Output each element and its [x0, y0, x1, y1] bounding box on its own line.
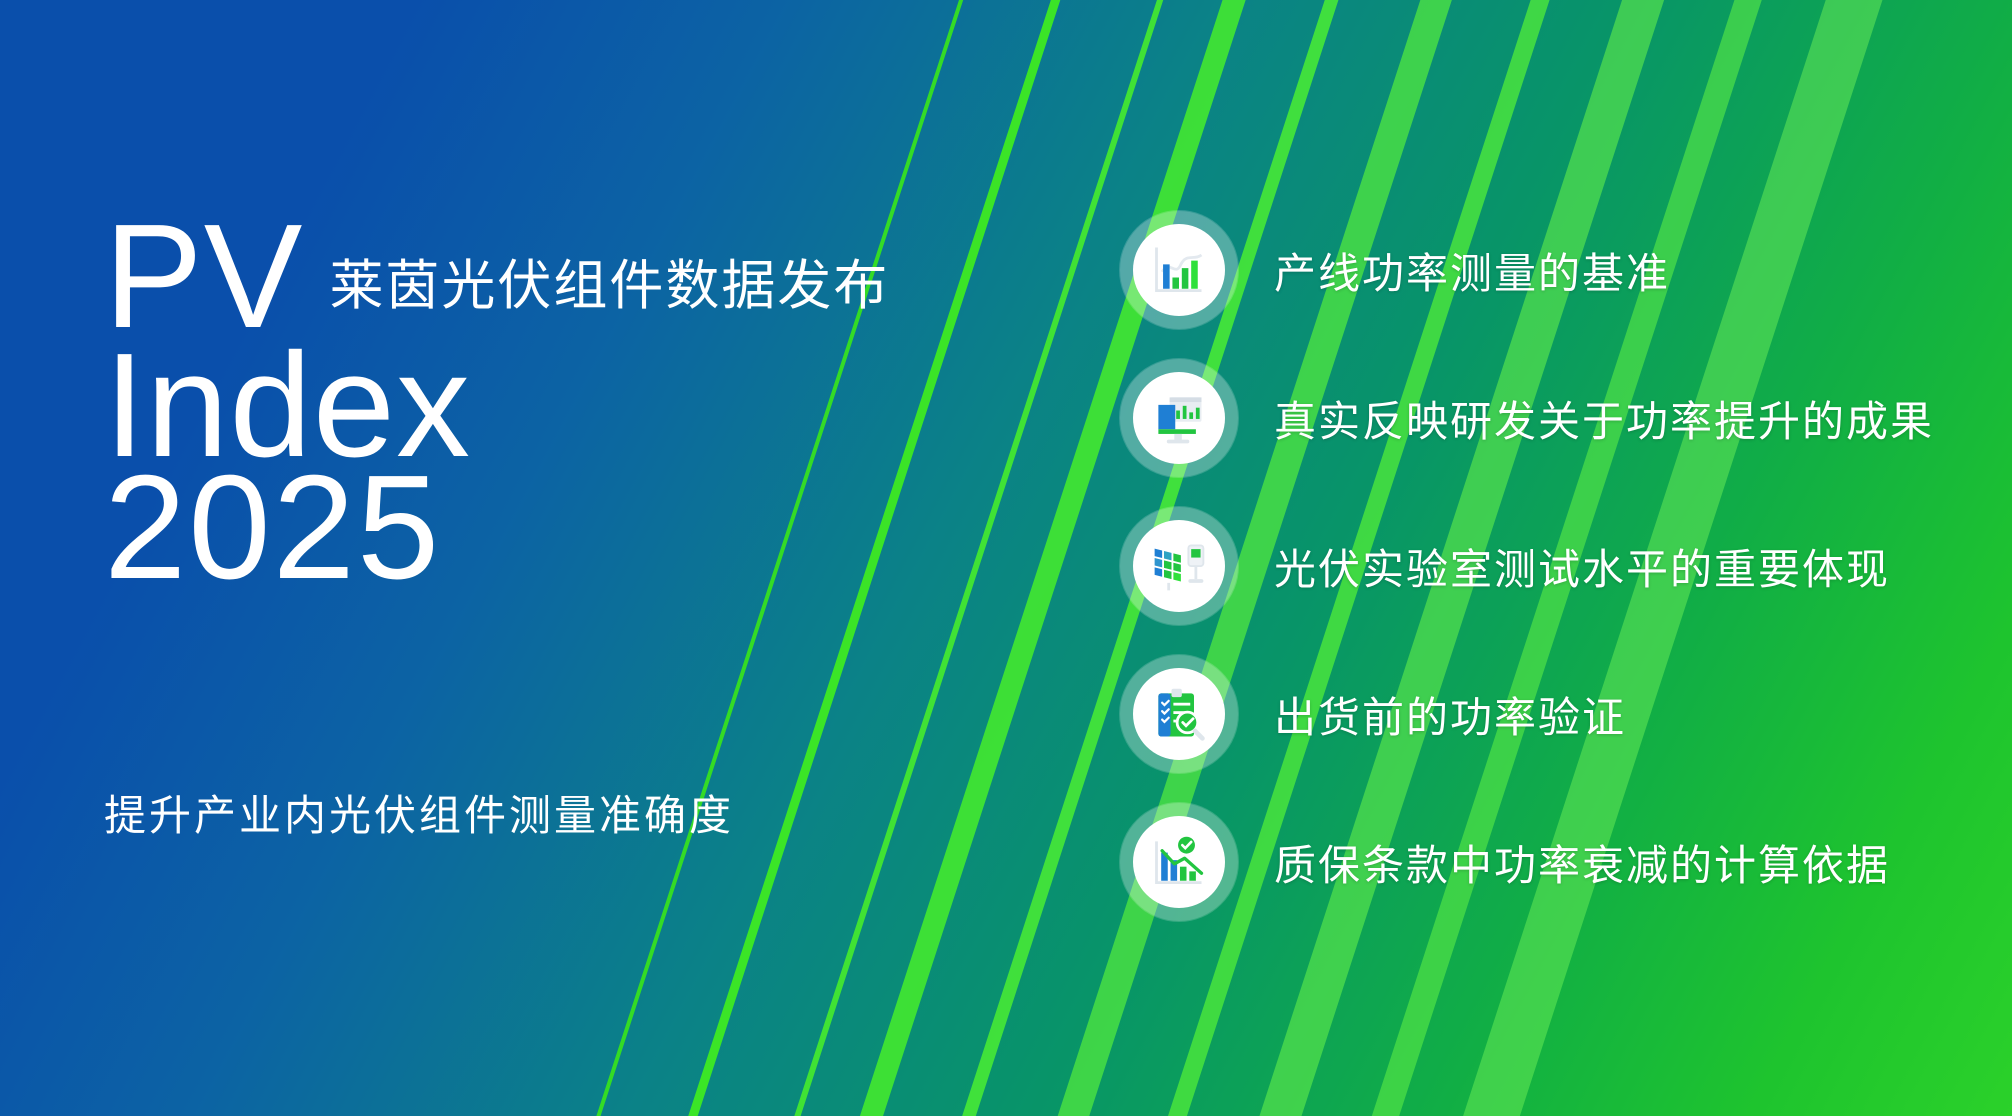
- benefit-icon-badge: [1120, 211, 1238, 329]
- list-item-label: 出货前的功率验证: [1274, 684, 1626, 745]
- clipboard-check-search-icon: [1133, 668, 1225, 760]
- list-item[interactable]: 真实反映研发关于功率提升的成果: [1120, 344, 1980, 492]
- list-item-label: 真实反映研发关于功率提升的成果: [1274, 388, 1934, 449]
- benefit-icon-badge: [1120, 803, 1238, 921]
- list-item-label: 产线功率测量的基准: [1274, 240, 1670, 301]
- list-item[interactable]: 出货前的功率验证: [1120, 640, 1980, 788]
- benefits-list: 产线功率测量的基准: [1120, 196, 1980, 936]
- list-item[interactable]: 光伏实验室测试水平的重要体现: [1120, 492, 1980, 640]
- hero-title-year: 2025: [104, 454, 884, 602]
- benefit-icon-badge: [1120, 507, 1238, 625]
- monitor-chart-icon: [1133, 372, 1225, 464]
- benefit-icon-badge: [1120, 359, 1238, 477]
- list-item-label: 质保条款中功率衰减的计算依据: [1274, 832, 1890, 893]
- list-item[interactable]: 质保条款中功率衰减的计算依据: [1120, 788, 1980, 936]
- benefit-icon-badge: [1120, 655, 1238, 773]
- slide-canvas: PV 莱茵光伏组件数据发布 Index 2025 提升产业内光伏组件测量准确度: [0, 0, 2012, 1116]
- bar-chart-icon: [1133, 224, 1225, 316]
- declining-chart-shield-icon: [1133, 816, 1225, 908]
- list-item-label: 光伏实验室测试水平的重要体现: [1274, 536, 1890, 597]
- list-item[interactable]: 产线功率测量的基准: [1120, 196, 1980, 344]
- hero-text-block: PV 莱茵光伏组件数据发布 Index 2025: [104, 208, 884, 602]
- solar-panel-meter-icon: [1133, 520, 1225, 612]
- hero-tagline: 提升产业内光伏组件测量准确度: [104, 782, 734, 843]
